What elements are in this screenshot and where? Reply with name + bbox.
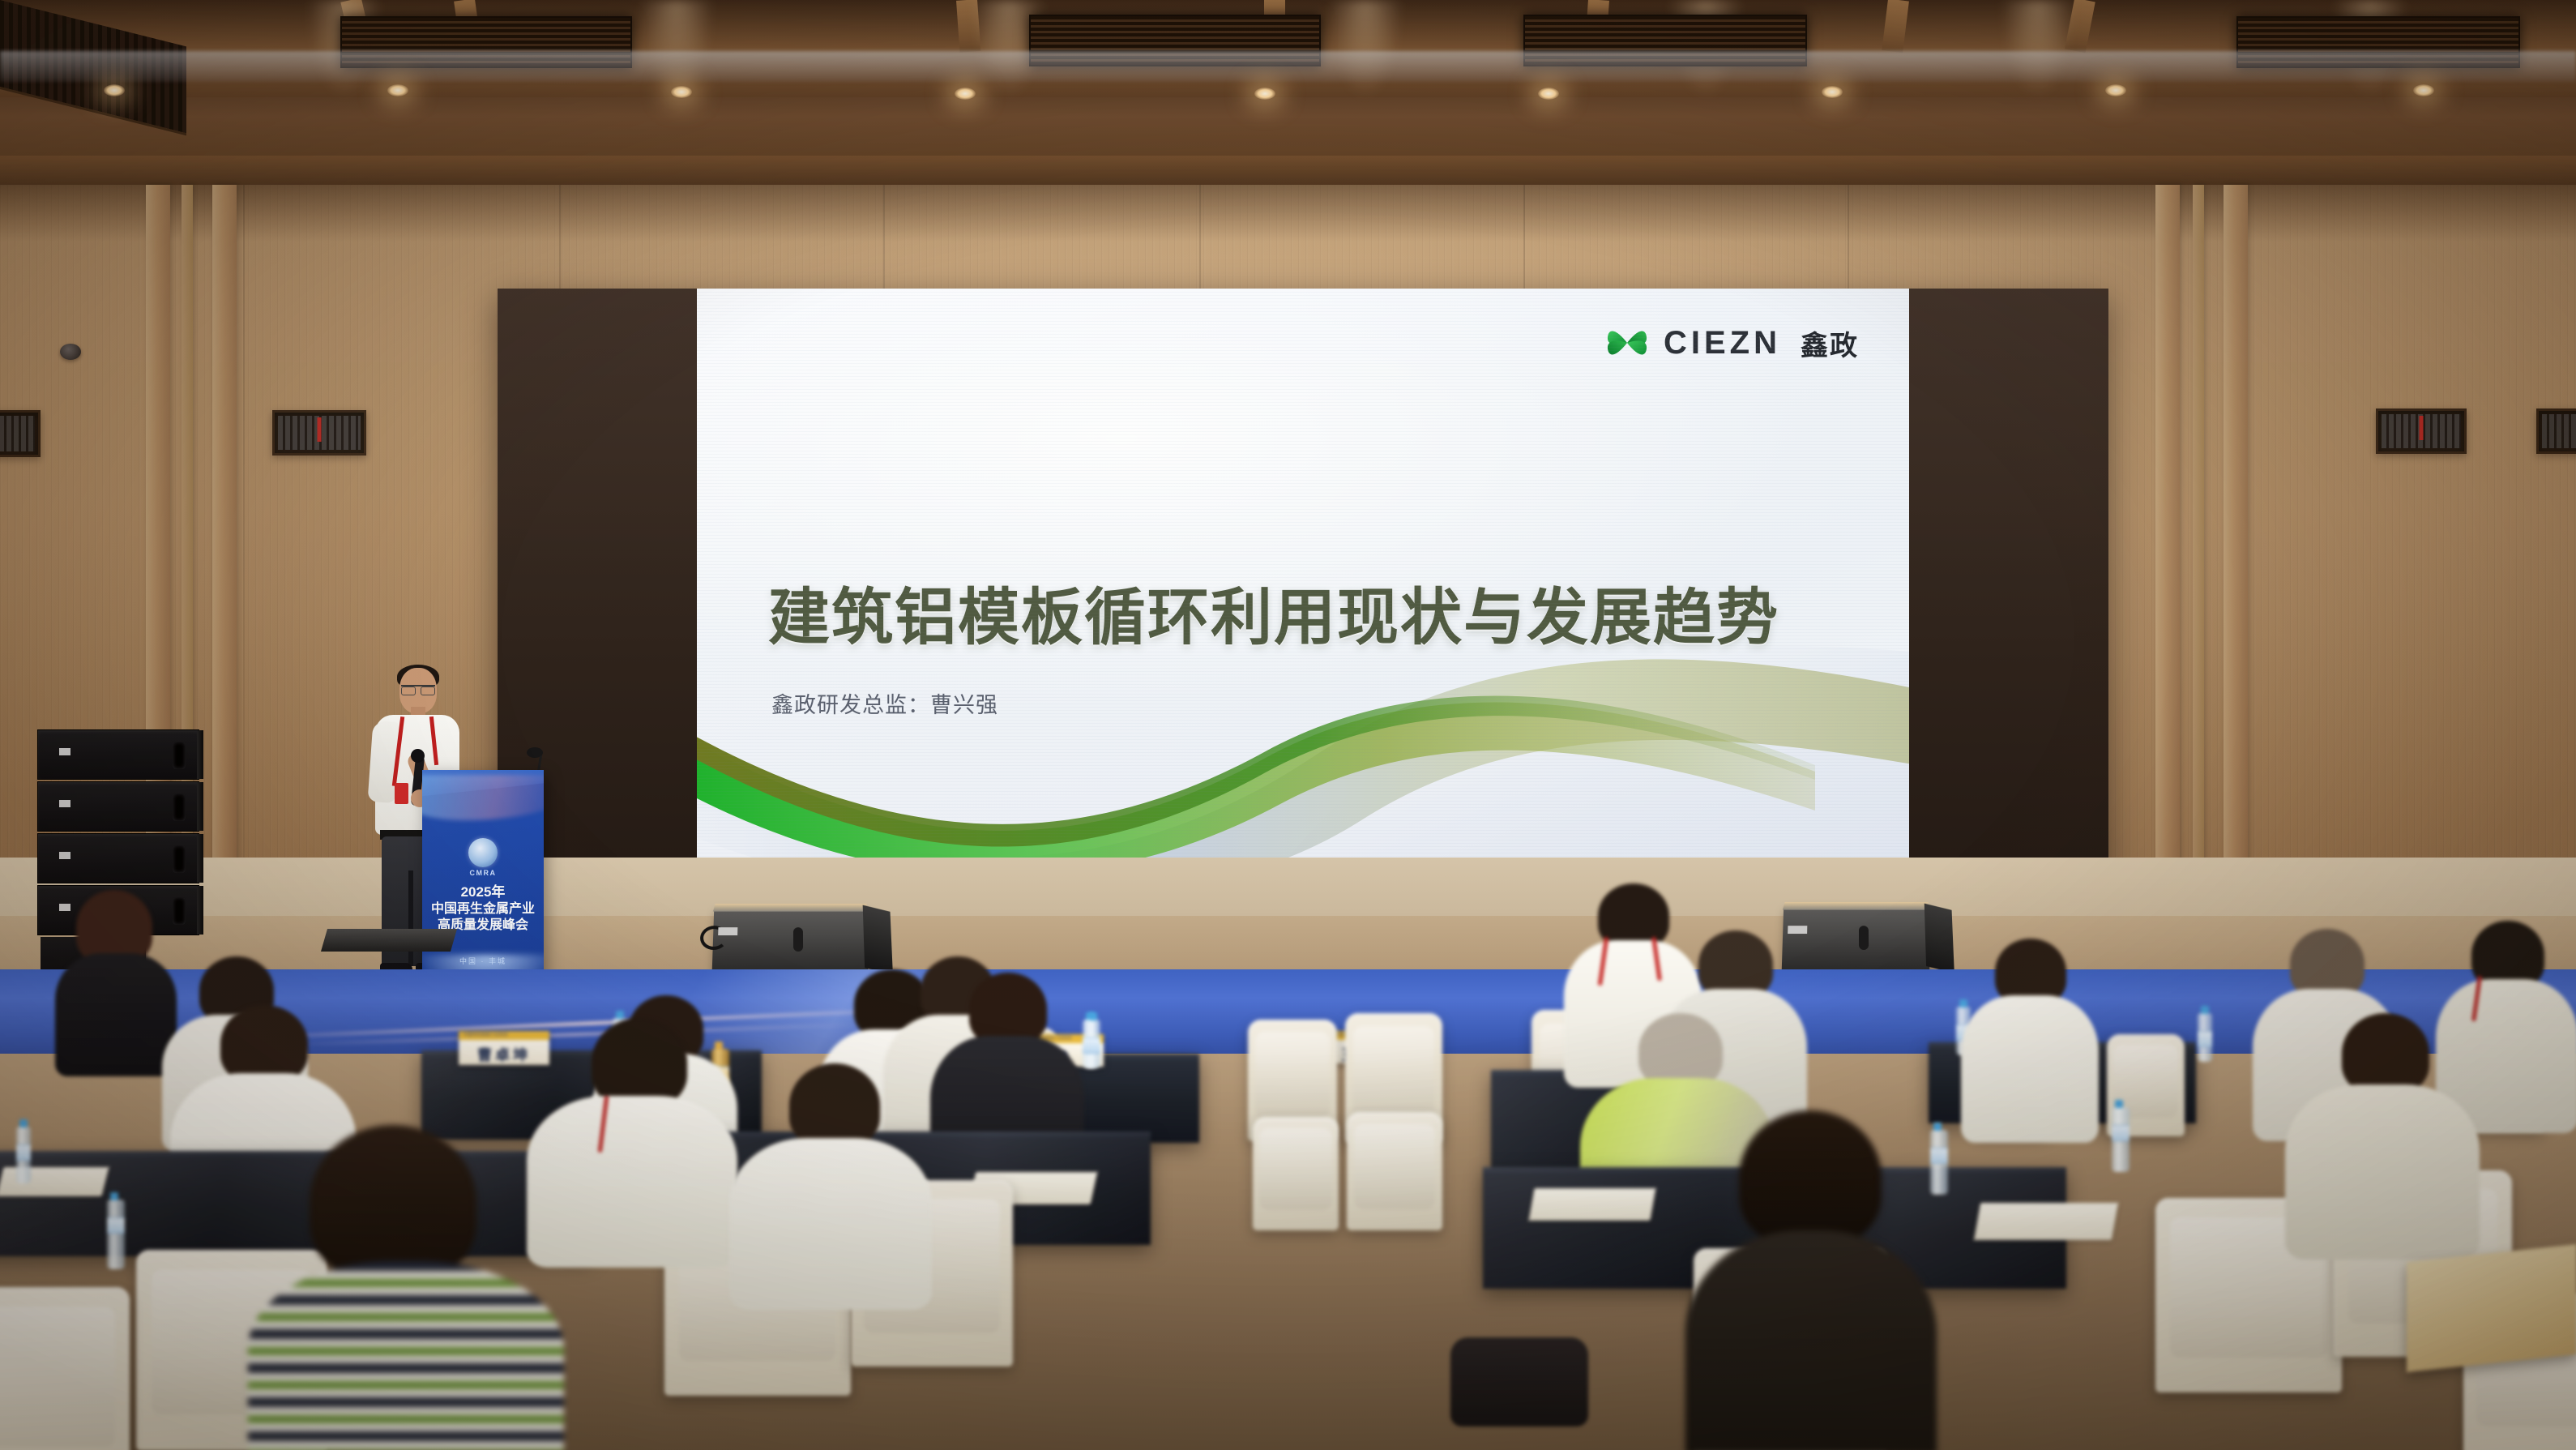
led-video-wall: CIEZN 鑫政 建筑铝模板循环利用现状与发展趋势 鑫政研发总监：曹兴强 [697,289,1909,887]
ceiling-downlight [2413,84,2434,96]
screen-bezel-right [1909,289,2108,887]
ceiling-light-cove [0,51,2576,82]
monitor-handle [793,927,803,952]
speaker-rail [197,730,203,779]
attendee-hair [310,1125,476,1279]
microphone-capsule [411,749,425,763]
logo-chinese-text: 鑫政 [1801,323,1859,363]
attendee [1961,939,2099,1141]
chair [0,1287,130,1450]
vent-slats [2542,414,2576,448]
ceiling-light-wash [2001,0,2074,97]
attendee-front-striped [219,1125,559,1450]
speaker-badge [59,800,70,807]
attendee-hair [220,1005,308,1083]
attendee-hair [969,973,1047,1046]
water-bottle [16,1127,31,1183]
attendee-torso [55,953,177,1076]
speaker-port [173,742,186,769]
conference-folder [2407,1244,2576,1372]
podium: CMRA 2025年 中国再生金属产业 高质量发展峰会 中国 · 丰城 [422,770,544,986]
podium-event-title: 2025年 中国再生金属产业 高质量发展峰会 [422,883,544,935]
attendee-front-dark [1669,1110,1945,1450]
slide-wave-graphic [697,644,1909,887]
ceiling-light-wash [640,0,713,97]
ceiling-downlight [1254,88,1275,100]
attendee-torso [2285,1084,2480,1260]
presenter-badge [395,783,408,804]
ceiling-light-wash [1329,0,1402,97]
ceiling-downlight [1822,86,1843,98]
ceiling [0,0,2576,188]
notepad [1974,1203,2118,1240]
speaker-rail [197,782,203,831]
attendee [2285,1013,2480,1256]
ceiling-soffit [0,156,2576,188]
monitor-side-face [1925,904,1954,973]
water-bottle [2112,1107,2130,1172]
bottle-label [2198,1031,2212,1047]
speaker-cabinet [37,833,199,883]
water-bottle [1086,1020,1100,1068]
podium-swoosh-graphic [422,775,544,820]
attendee-torso [1961,995,2099,1143]
podium-riser-step [321,929,457,952]
cmra-logo-icon [468,838,498,867]
speaker-rail [197,834,203,883]
attendee-torso [729,1138,932,1310]
ceiling-downlight [2105,84,2126,96]
speaker-badge [59,748,70,755]
bottle-label [16,1144,31,1161]
attendee [527,1018,737,1261]
attendee [50,890,180,1076]
fascia-highlight [213,969,1407,1065]
attendee-hair [592,1018,687,1107]
vent-indicator [2420,416,2424,440]
speaker-badge [59,852,70,859]
speaker-cabinet [37,729,199,780]
monitor-top-face [1783,902,1929,910]
ciezn-pinwheel-icon [1604,319,1651,366]
stage-monitor-wedge [712,909,869,972]
speaker-port [173,793,186,821]
bottle-label [107,1217,125,1234]
wall-vent-niche [272,410,366,456]
chair [1347,1112,1442,1230]
bottle-label [2112,1125,2130,1141]
led-wall-housing: CIEZN 鑫政 建筑铝模板循环利用现状与发展趋势 鑫政研发总监：曹兴强 [498,289,2108,887]
logo-latin-text: CIEZN [1664,325,1781,361]
slide-title: 建筑铝模板循环利用现状与发展趋势 [768,567,1779,657]
monitor-top-face [713,904,867,912]
conference-hall-photo: CIEZN 鑫政 建筑铝模板循环利用现状与发展趋势 鑫政研发总监：曹兴强 [0,0,2576,1450]
attendee-hair [2342,1013,2429,1094]
attendee-hair [1638,1013,1723,1088]
attendee-hair [1598,883,1669,948]
attendee-torso [248,1261,564,1450]
speaker-cabinet [37,781,199,832]
chair [1253,1117,1339,1230]
podium-mic-capsule [527,747,543,758]
attendee [729,1063,932,1307]
vent-slats [0,416,35,451]
podium-title-line-1: 2025年 [422,883,544,901]
speaker-port [173,845,186,873]
ceiling-downlight [387,84,408,96]
attendee-hair [1739,1110,1882,1245]
monitor-connector [718,927,737,935]
attendee-torso [527,1096,737,1268]
cmra-logo-text: CMRA [422,869,544,877]
attendee-torso [1685,1230,1937,1450]
nameplate-org: 中国有色金属工业协会 [464,1032,508,1037]
podium-title-line-2: 中国再生金属产业 [422,901,544,917]
floor-bag [1450,1337,1588,1426]
vent-indicator [318,417,322,442]
ceiling-downlight [1538,88,1559,100]
notepad [1528,1188,1655,1221]
wall-vent-niche [0,410,41,457]
water-bottle [107,1200,125,1269]
water-bottle [2198,1013,2212,1062]
attendee-hair [789,1063,880,1148]
ceiling-downlight [671,86,692,98]
wall-vent-niche [2376,408,2467,454]
wall-top-shadow [0,185,2576,242]
speaker-rail [197,886,203,935]
presenter-leg-gap [408,870,413,966]
wall-vent-niche [2536,408,2576,454]
ceiling-camera-dome [60,344,81,360]
ceiling-downlight [104,84,125,96]
slide-subtitle: 鑫政研发总监：曹兴强 [771,687,998,719]
presenter-glasses [401,685,435,692]
bottle-label [1086,1037,1100,1054]
slide-logo: CIEZN 鑫政 [1604,319,1859,366]
ceiling-downlight [955,88,976,100]
monitor-handle [1859,926,1869,950]
